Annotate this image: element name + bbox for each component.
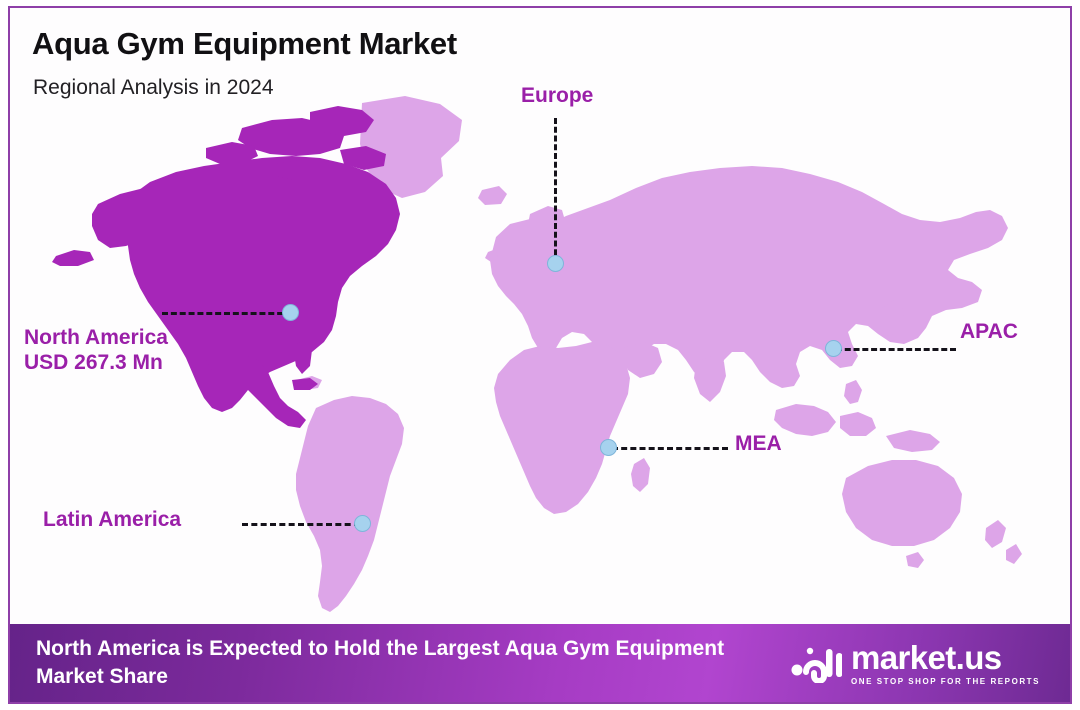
infographic-frame: Aqua Gym Equipment Market Regional Analy… <box>8 6 1072 704</box>
region-value-north-america: USD 267.3 Mn <box>24 351 168 376</box>
map-marker-mea[interactable] <box>600 439 617 456</box>
region-label-europe: Europe <box>521 84 593 109</box>
banner-headline: North America is Expected to Hold the La… <box>36 635 776 690</box>
region-label-mea: MEA <box>735 432 782 457</box>
map-marker-europe[interactable] <box>547 255 564 272</box>
map-marker-apac[interactable] <box>825 340 842 357</box>
logo-tagline: ONE STOP SHOP FOR THE REPORTS <box>851 677 1040 686</box>
region-label-apac: APAC <box>960 320 1018 345</box>
region-label-north-america: North America USD 267.3 Mn <box>24 326 168 376</box>
region-label-latin-america: Latin America <box>43 508 181 533</box>
logo-wordmark: market.us <box>851 641 1002 674</box>
bar-chart-logo-icon <box>790 639 842 688</box>
bottom-banner: North America is Expected to Hold the La… <box>10 624 1070 702</box>
map-highlight-north-america <box>52 106 400 428</box>
map-base-landmasses <box>295 96 1022 612</box>
leader-line-latin-america <box>242 523 360 526</box>
logo-text-block: market.us ONE STOP SHOP FOR THE REPORTS <box>851 641 1040 686</box>
market-us-logo[interactable]: market.us ONE STOP SHOP FOR THE REPORTS <box>790 639 1040 688</box>
leader-line-europe <box>554 118 557 264</box>
map-marker-north-america[interactable] <box>282 304 299 321</box>
leader-line-apac <box>836 348 956 351</box>
region-label-north-america-name: North America <box>24 326 168 351</box>
leader-line-north-america <box>162 312 292 315</box>
leader-line-mea <box>612 447 728 450</box>
map-marker-latin-america[interactable] <box>354 515 371 532</box>
